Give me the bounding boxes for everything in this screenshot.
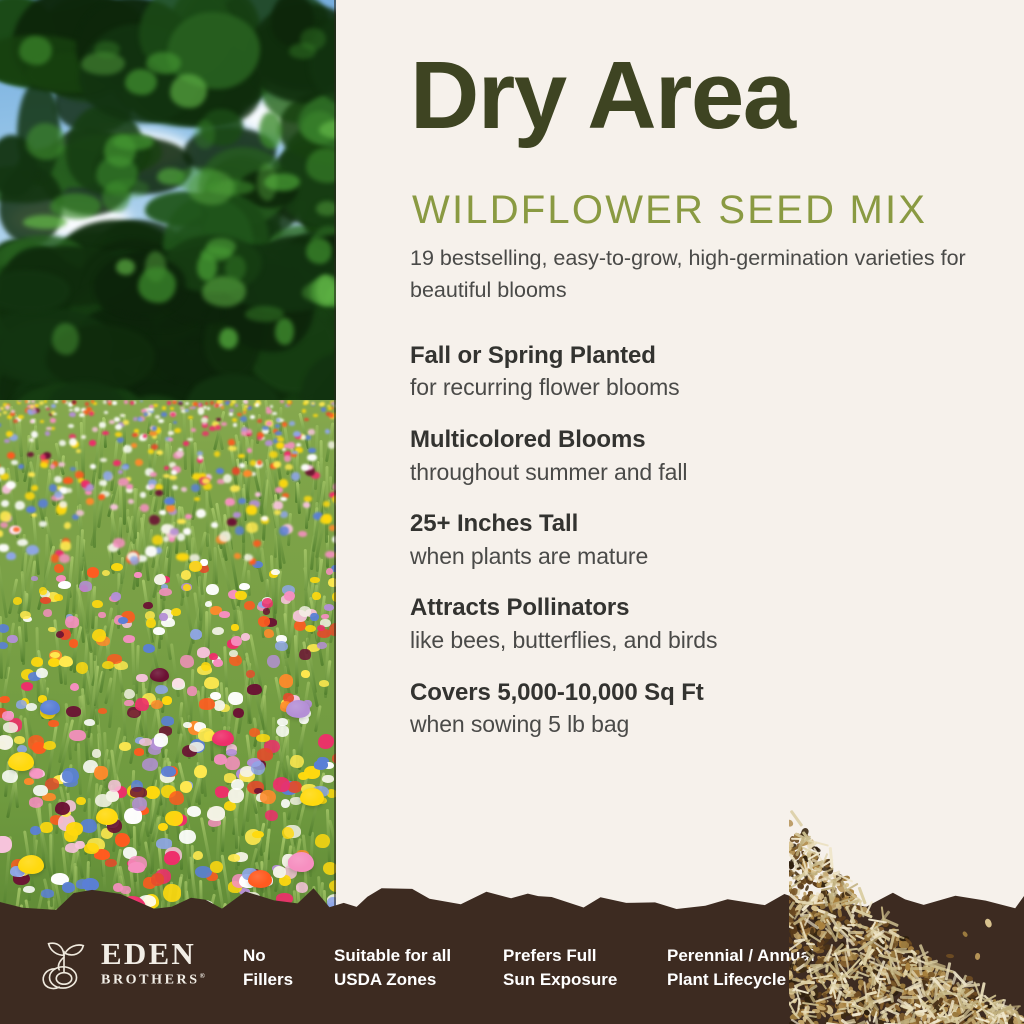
seed	[871, 968, 875, 979]
cream-flower	[244, 554, 253, 560]
seed	[951, 1001, 962, 1012]
seed	[936, 1019, 943, 1024]
seed	[965, 986, 974, 994]
seed	[837, 1016, 843, 1024]
yellow-flower	[31, 485, 38, 491]
seed	[918, 980, 929, 988]
pale-yellow-flower	[319, 680, 330, 687]
cream-flower	[187, 438, 193, 442]
seed	[877, 1020, 887, 1024]
seed-chaff	[961, 1003, 971, 1006]
seed-chaff	[960, 1014, 977, 1024]
seed	[858, 996, 867, 1006]
seed	[921, 970, 927, 976]
pale-yellow-flower	[301, 670, 311, 678]
pale-blue-flower	[130, 556, 140, 565]
seed	[927, 984, 938, 993]
seed-chaff	[825, 918, 831, 925]
seed	[875, 979, 885, 989]
pale-yellow-flower	[0, 407, 4, 410]
white-flower	[115, 424, 122, 430]
grass-blade	[314, 705, 322, 732]
seed	[1016, 1017, 1023, 1024]
tree-highlight	[102, 182, 131, 212]
dark-maroon-flower	[66, 706, 81, 718]
seed	[851, 930, 857, 937]
seed-chaff	[866, 991, 877, 996]
seed	[851, 921, 856, 928]
yellow-flower	[145, 786, 159, 799]
seed	[971, 999, 978, 1008]
seed-chaff	[876, 946, 885, 957]
seed	[913, 978, 924, 986]
seed-chaff	[953, 1004, 958, 1016]
footer-bar: EDEN BROTHERS® NoFillersSuitable for all…	[0, 914, 1024, 1024]
seed	[936, 995, 944, 1003]
yellow-flower	[246, 505, 257, 515]
seed	[811, 930, 818, 937]
pale-blue-flower	[289, 421, 295, 425]
seed	[939, 970, 947, 980]
seed-chaff	[789, 1001, 797, 1016]
seed-chaff	[1015, 1011, 1022, 1024]
seed	[935, 969, 943, 980]
seed	[930, 981, 936, 986]
seed	[869, 936, 878, 944]
yellow-flower	[305, 625, 316, 632]
seed	[840, 1020, 846, 1024]
dark-maroon-flower	[149, 515, 160, 525]
pink-flower	[128, 856, 146, 871]
red-flower	[215, 404, 219, 407]
seed-chaff	[912, 952, 917, 962]
seed	[871, 992, 877, 998]
seed-chaff	[919, 1020, 924, 1024]
seed	[811, 1018, 817, 1024]
seed	[935, 967, 940, 971]
seed	[1011, 1013, 1017, 1017]
seed-chaff	[880, 930, 890, 941]
yellow-flower	[320, 515, 330, 524]
seed-chaff	[886, 967, 901, 971]
seed	[999, 1015, 1003, 1020]
seed-chaff	[988, 1015, 996, 1022]
white-flower	[280, 497, 287, 501]
blue-cornflower	[30, 826, 41, 835]
seed	[889, 944, 897, 950]
blue-cornflower	[40, 700, 60, 715]
seed-chaff	[879, 982, 887, 986]
seed	[814, 1003, 822, 1009]
badge-line-2: Plant Lifecycle	[667, 968, 867, 992]
seed	[843, 920, 851, 928]
pale-pink-flower	[128, 499, 134, 504]
seed-chaff	[835, 991, 842, 1005]
pale-yellow-flower	[20, 611, 30, 619]
dark-maroon-flower	[143, 602, 153, 609]
seed	[792, 924, 803, 930]
seed	[810, 930, 818, 938]
feature-heading: Multicolored Blooms	[410, 424, 1010, 456]
seed	[870, 927, 876, 931]
seed	[895, 985, 902, 993]
light-orange-flower	[25, 400, 28, 402]
white-flower	[58, 581, 70, 589]
blue-cornflower	[0, 624, 9, 633]
seed-chaff	[875, 961, 885, 982]
seed	[891, 1020, 903, 1024]
seed	[910, 998, 915, 1005]
seed	[838, 927, 848, 937]
seed	[879, 943, 885, 950]
seed	[851, 930, 860, 940]
seed	[863, 1013, 870, 1020]
seed-chaff	[877, 977, 886, 980]
seed-chaff	[988, 1015, 1009, 1019]
seed	[951, 1010, 961, 1016]
seed	[817, 1005, 827, 1014]
orange-flower	[91, 400, 94, 402]
seed	[877, 940, 887, 951]
seed	[988, 1017, 992, 1023]
grass-blade	[123, 414, 126, 447]
seed	[899, 939, 908, 945]
seed	[890, 955, 898, 962]
seed	[965, 1018, 972, 1024]
seed	[922, 977, 930, 983]
seed	[866, 989, 874, 997]
seed-chaff	[937, 966, 953, 972]
seed	[868, 968, 878, 978]
pale-pink-flower	[149, 484, 155, 489]
pale-yellow-flower	[30, 405, 34, 408]
seed	[791, 997, 797, 1003]
seed	[897, 1011, 906, 1022]
seed-chaff	[957, 975, 968, 996]
seed	[912, 983, 916, 989]
seed	[875, 945, 883, 954]
seed	[947, 998, 958, 1008]
magenta-flower	[202, 431, 209, 437]
seed-chaff	[931, 989, 948, 1004]
seed-chaff	[870, 976, 875, 989]
white-flower	[0, 467, 5, 474]
seed-chaff	[997, 1006, 1005, 1024]
footer-badge: Suitable for allUSDA Zones	[334, 944, 503, 992]
seed	[867, 928, 875, 936]
seed	[861, 995, 867, 1001]
magenta-flower	[257, 436, 262, 440]
seed-chaff	[962, 997, 965, 1009]
seed	[889, 980, 899, 987]
seed-chaff	[798, 919, 807, 940]
seed	[908, 1004, 914, 1012]
seed	[847, 1007, 855, 1015]
seed	[813, 999, 817, 1003]
seed	[892, 957, 900, 963]
seed-chaff	[903, 1006, 916, 1010]
seed-chaff	[928, 1009, 936, 1016]
yellow-flower	[238, 454, 245, 459]
seed	[942, 1016, 951, 1023]
seed	[940, 1004, 948, 1012]
seed	[934, 1010, 939, 1018]
seed	[896, 1018, 900, 1024]
seed	[995, 1001, 1002, 1009]
pale-yellow-flower	[230, 485, 240, 492]
seed	[958, 987, 964, 993]
lavender-flower	[111, 592, 121, 600]
light-orange-flower	[243, 470, 252, 478]
seed-chaff	[996, 1003, 1015, 1011]
lavender-flower	[324, 604, 334, 611]
blue-cornflower	[238, 498, 246, 505]
pale-pink-flower	[308, 429, 315, 436]
stray-seed	[966, 975, 974, 981]
seed	[885, 930, 895, 939]
seed-chaff	[835, 923, 840, 942]
seed	[921, 1002, 928, 1010]
content-panel: Dry Area WILDFLOWER SEED MIX 19 bestsell…	[336, 0, 1024, 930]
dark-maroon-flower	[263, 608, 271, 615]
seed-chaff	[868, 931, 884, 946]
seed	[949, 1000, 953, 1004]
seed	[937, 1005, 944, 1013]
orange-flower	[98, 708, 107, 714]
seed-chaff	[920, 988, 934, 1003]
seed	[970, 1013, 976, 1019]
cream-flower	[0, 735, 13, 749]
white-flower	[69, 438, 77, 446]
seed	[835, 1001, 846, 1009]
pink-flower	[246, 429, 252, 434]
seed-chaff	[912, 978, 918, 994]
seed	[922, 1006, 927, 1011]
pink-flower	[298, 531, 306, 537]
torn-paper-edge	[0, 888, 1024, 918]
seed	[949, 1006, 954, 1012]
seed-chaff	[956, 994, 970, 1009]
lavender-flower	[286, 700, 310, 718]
seed-chaff	[951, 974, 957, 985]
seed	[891, 964, 899, 972]
seed	[917, 1010, 928, 1018]
cream-flower	[299, 606, 311, 617]
cream-flower	[103, 400, 107, 404]
seed	[851, 992, 861, 1001]
light-orange-flower	[221, 406, 224, 408]
seed	[881, 975, 889, 984]
seed	[886, 969, 897, 980]
white-flower	[114, 417, 120, 421]
white-flower	[15, 501, 25, 511]
dark-maroon-flower	[56, 631, 64, 638]
feature-item: 25+ Inches Tallwhen plants are mature	[410, 508, 1010, 572]
cream-flower	[3, 722, 18, 733]
dark-maroon-flower	[299, 649, 310, 660]
seed-chaff	[869, 973, 887, 990]
magenta-flower	[209, 653, 218, 661]
seed	[924, 976, 932, 986]
seed	[992, 1002, 997, 1006]
seed	[804, 993, 812, 999]
seed-chaff	[937, 1012, 957, 1021]
seed	[840, 997, 846, 1006]
seed	[966, 998, 974, 1006]
seed	[961, 987, 971, 995]
red-flower	[288, 781, 302, 794]
seed-chaff	[809, 993, 816, 1002]
seed	[935, 1016, 942, 1023]
seed	[972, 1017, 979, 1024]
seed	[815, 920, 823, 928]
yellow-flower	[44, 400, 47, 403]
seed	[890, 1019, 896, 1024]
white-flower	[104, 411, 107, 414]
seed	[852, 1014, 860, 1021]
seed	[891, 990, 899, 997]
seed-chaff	[835, 1000, 856, 1004]
cream-flower	[29, 438, 34, 442]
seed-chaff	[922, 965, 933, 973]
yellow-flower	[13, 597, 22, 605]
seed-chaff	[850, 1004, 869, 1011]
lavender-flower	[79, 581, 92, 592]
seed-chaff	[870, 969, 876, 986]
seed-chaff	[936, 1013, 942, 1020]
seed	[835, 928, 846, 940]
white-flower	[277, 718, 288, 726]
seed	[907, 989, 914, 995]
pale-blue-flower	[280, 511, 289, 518]
seed	[796, 933, 803, 941]
footer-badge: Perennial / AnnualPlant Lifecycle	[667, 944, 867, 992]
seed	[946, 979, 954, 986]
yellow-flower	[210, 861, 223, 873]
seed	[936, 977, 945, 983]
pink-flower	[98, 612, 106, 618]
seed	[854, 1009, 863, 1019]
seed-chaff	[873, 941, 892, 954]
seed	[887, 952, 897, 957]
seed-chaff	[876, 981, 881, 998]
seed	[891, 988, 896, 994]
seed-chaff	[939, 991, 957, 995]
pink-flower	[69, 730, 85, 742]
seed	[951, 996, 959, 1007]
pink-flower	[59, 554, 70, 563]
seed-chaff	[926, 1006, 937, 1019]
seed-chaff	[976, 1012, 984, 1024]
yellow-flower	[146, 618, 156, 628]
yellow-flower	[250, 460, 256, 466]
seed	[877, 938, 884, 948]
seed	[977, 1004, 984, 1012]
pale-blue-flower	[251, 761, 264, 774]
seed	[906, 970, 913, 977]
seed	[868, 977, 877, 985]
seed	[870, 1008, 880, 1017]
seed	[946, 1015, 954, 1024]
seed-chaff	[918, 955, 923, 975]
seed	[936, 1011, 941, 1017]
seed-chaff	[888, 929, 900, 937]
seed	[900, 985, 907, 989]
orange-flower	[258, 616, 270, 627]
seed	[928, 1007, 934, 1013]
white-flower	[26, 703, 37, 711]
yellow-flower	[188, 416, 193, 419]
seed	[958, 1016, 965, 1020]
seed	[972, 1014, 981, 1023]
seed	[799, 1001, 808, 1011]
seed-chaff	[984, 995, 999, 1012]
pale-yellow-flower	[274, 510, 280, 515]
tree-highlight	[125, 69, 157, 95]
seed-chaff	[909, 967, 931, 970]
red-flower	[246, 670, 255, 677]
seed-chaff	[891, 986, 904, 993]
seed	[845, 1006, 852, 1011]
orange-flower	[115, 833, 130, 847]
seed	[985, 1018, 989, 1022]
seed	[867, 972, 874, 980]
seed-chaff	[945, 989, 959, 998]
seed	[910, 1017, 917, 1024]
seed	[854, 996, 862, 1003]
seed	[915, 1016, 922, 1024]
pale-yellow-flower	[180, 781, 192, 792]
pale-blue-flower	[155, 685, 168, 695]
seed	[803, 936, 810, 943]
seed	[922, 964, 929, 971]
seed	[821, 1002, 827, 1008]
yellow-poppy	[8, 752, 34, 771]
seed	[865, 931, 874, 939]
seed	[893, 972, 900, 980]
seed	[915, 995, 922, 1005]
seed	[907, 970, 917, 981]
seed	[980, 1004, 985, 1009]
seed-chaff	[957, 993, 966, 1012]
seed	[897, 951, 903, 961]
seed	[885, 966, 894, 975]
yellow-flower	[25, 492, 35, 500]
seed	[960, 1000, 966, 1011]
seed	[878, 926, 884, 931]
pale-yellow-flower	[319, 403, 323, 406]
seed	[946, 1002, 954, 1009]
seed	[903, 1016, 910, 1024]
seed	[936, 990, 945, 998]
magenta-flower	[21, 682, 33, 691]
red-flower	[232, 467, 241, 474]
seed	[867, 976, 877, 987]
grass-blade	[205, 491, 209, 547]
pale-blue-flower	[54, 491, 62, 498]
red-flower	[132, 433, 138, 437]
seed-chaff	[941, 1006, 951, 1023]
pink-flower	[168, 438, 173, 441]
yellow-flower	[111, 563, 123, 571]
pale-blue-flower	[51, 404, 56, 407]
white-flower	[281, 799, 290, 808]
seed-chaff	[993, 1004, 1004, 1013]
yellow-flower	[170, 407, 174, 410]
white-flower	[53, 413, 57, 415]
orange-flower	[228, 439, 235, 445]
grass-blade	[296, 482, 301, 514]
